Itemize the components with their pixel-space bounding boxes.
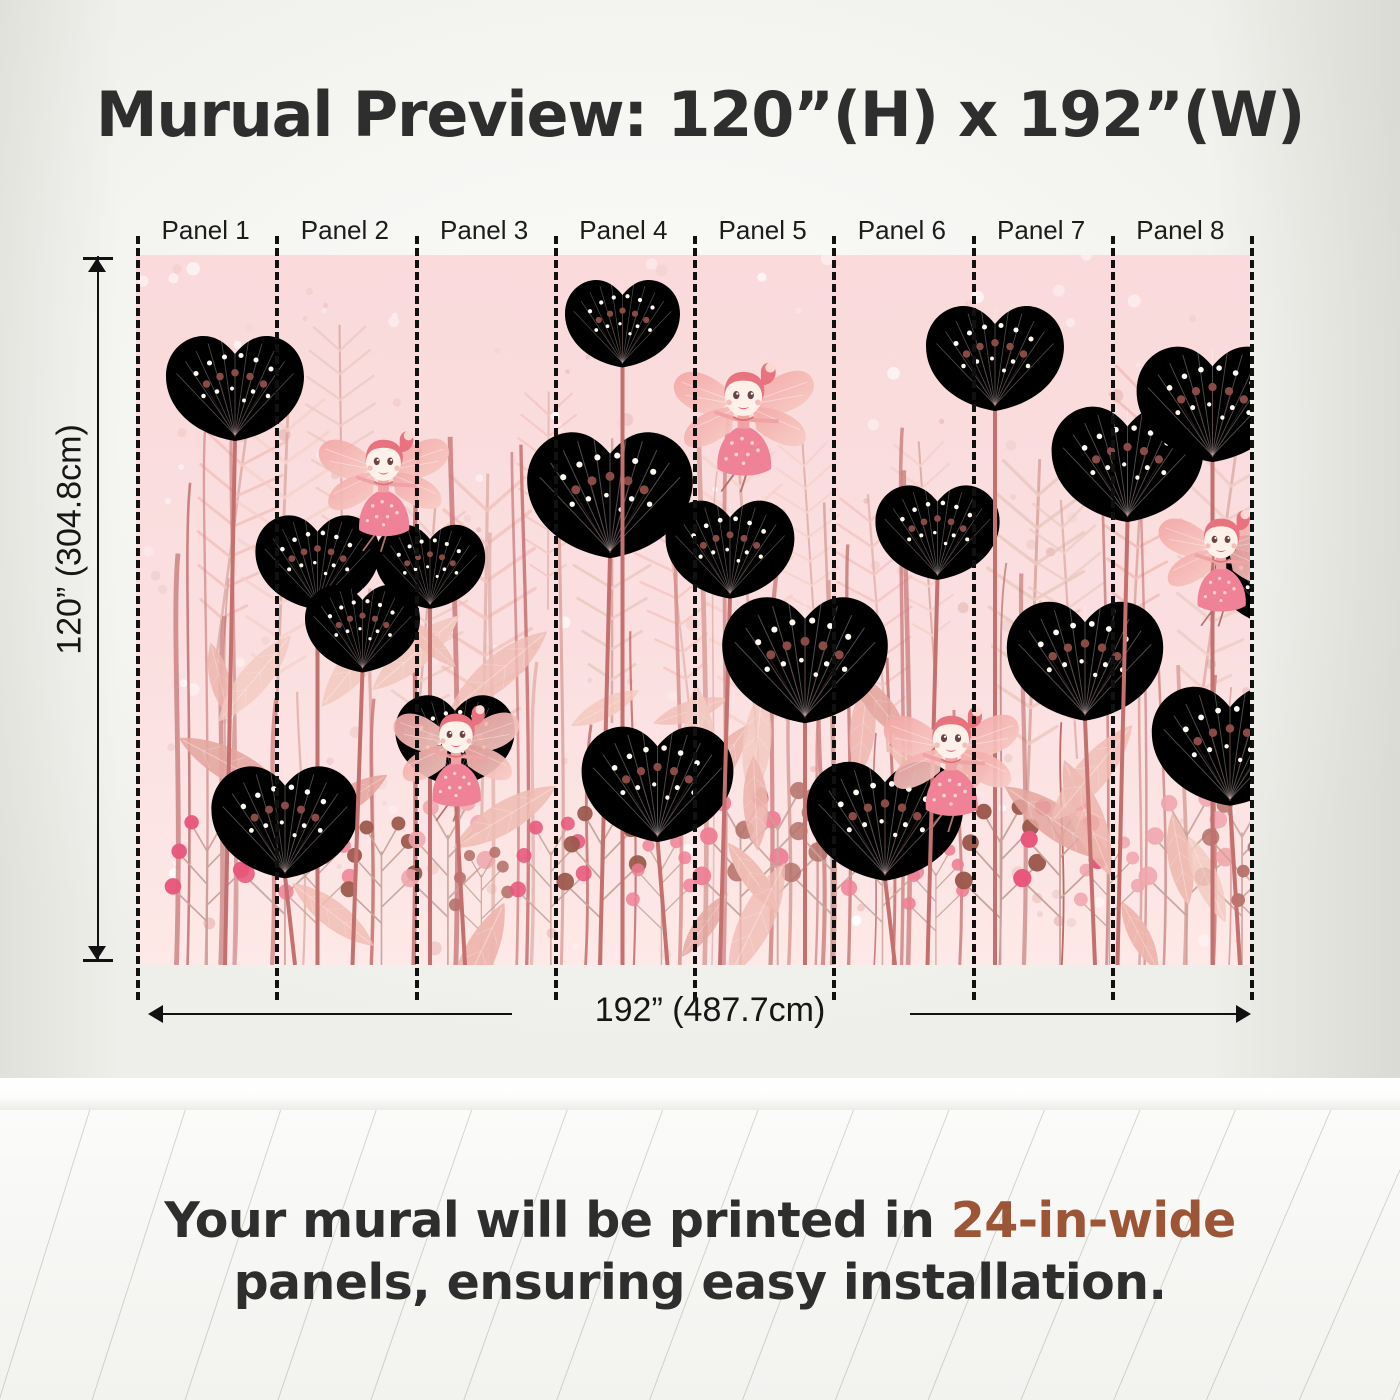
panel-divider-0: [136, 236, 140, 1000]
panel-label-8: Panel 8: [1111, 215, 1250, 255]
width-arrow-right: [1236, 1005, 1251, 1023]
height-dimension-label: 120” (304.8cm): [51, 410, 90, 670]
caption-line2: panels, ensuring easy installation.: [234, 1254, 1167, 1311]
height-arrow-down: [88, 946, 106, 960]
panel-divider-2: [415, 236, 419, 1000]
page-title: Murual Preview: 120”(H) x 192”(W): [0, 78, 1400, 151]
height-arrow-up: [88, 258, 106, 272]
caption-line1-pre: Your mural will be printed in: [164, 1192, 950, 1249]
panel-divider-7: [1111, 236, 1115, 1000]
panel-divider-8: [1250, 236, 1254, 1000]
baseboard: [0, 1078, 1400, 1112]
mural-preview-stage: Murual Preview: 120”(H) x 192”(W) Panel …: [0, 0, 1400, 1400]
panel-label-4: Panel 4: [554, 215, 693, 255]
panel-label-5: Panel 5: [693, 215, 832, 255]
panel-label-2: Panel 2: [275, 215, 414, 255]
width-line-right: [910, 1013, 1240, 1015]
panel-divider-4: [693, 236, 697, 1000]
panel-divider-5: [832, 236, 836, 1000]
panel-label-3: Panel 3: [415, 215, 554, 255]
panel-divider-6: [972, 236, 976, 1000]
panel-label-7: Panel 7: [972, 215, 1111, 255]
floor-plank-seam: [1377, 1110, 1400, 1400]
caption-accent: 24-in-wide: [951, 1192, 1236, 1249]
width-dimension-label: 192” (487.7cm): [500, 991, 920, 1030]
footer-caption: Your mural will be printed in 24-in-wide…: [90, 1190, 1310, 1314]
panel-label-1: Panel 1: [136, 215, 275, 255]
panel-divider-3: [554, 236, 558, 1000]
height-dimension-line: [97, 256, 99, 962]
panel-label-6: Panel 6: [832, 215, 971, 255]
width-arrow-left: [148, 1005, 163, 1023]
panel-divider-1: [275, 236, 279, 1000]
width-line-left: [162, 1013, 512, 1015]
